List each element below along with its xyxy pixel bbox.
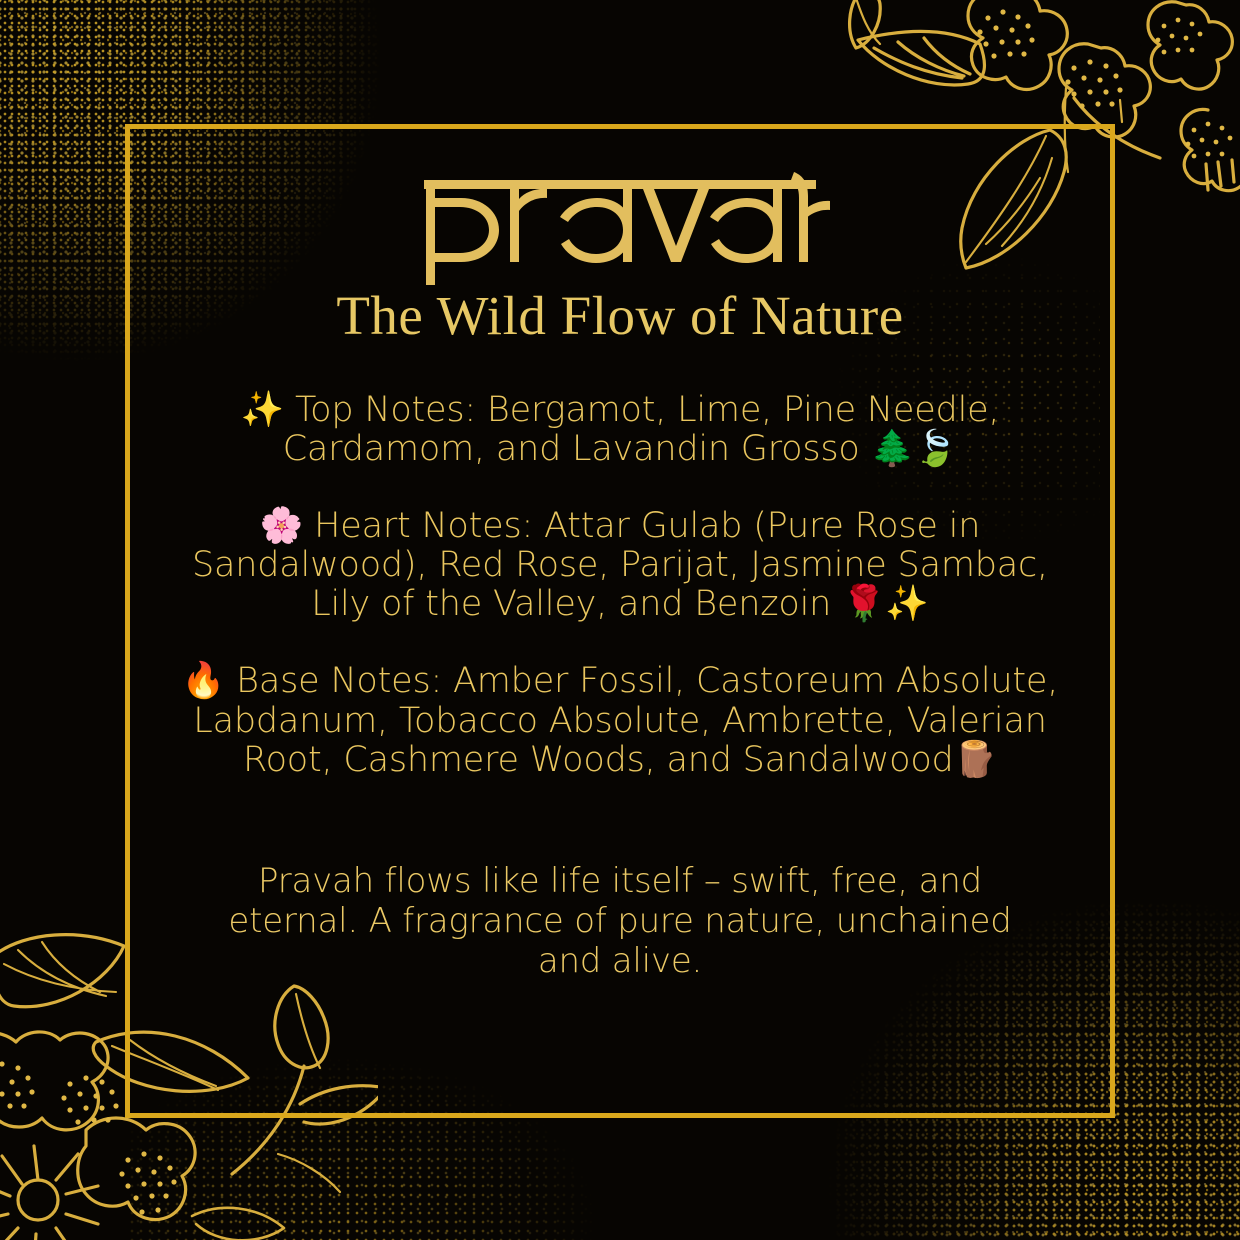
card-content: The Wild Flow of Nature ✨ Top Notes: Ber… — [125, 124, 1115, 1118]
pravah-wordmark-icon — [410, 172, 830, 290]
page-title: The Wild Flow of Nature — [336, 286, 903, 347]
note-line-top: ✨ Top Notes: Bergamot, Lime, Pine Needle… — [180, 391, 1060, 469]
note-line-heart: 🌸 Heart Notes: Attar Gulab (Pure Rose in… — [180, 507, 1060, 625]
tagline-text: Pravah flows like life itself – swift, f… — [195, 862, 1045, 981]
fragrance-promo-card: The Wild Flow of Nature ✨ Top Notes: Ber… — [0, 0, 1240, 1240]
note-line-base: 🔥 Base Notes: Amber Fossil, Castoreum Ab… — [180, 662, 1060, 780]
